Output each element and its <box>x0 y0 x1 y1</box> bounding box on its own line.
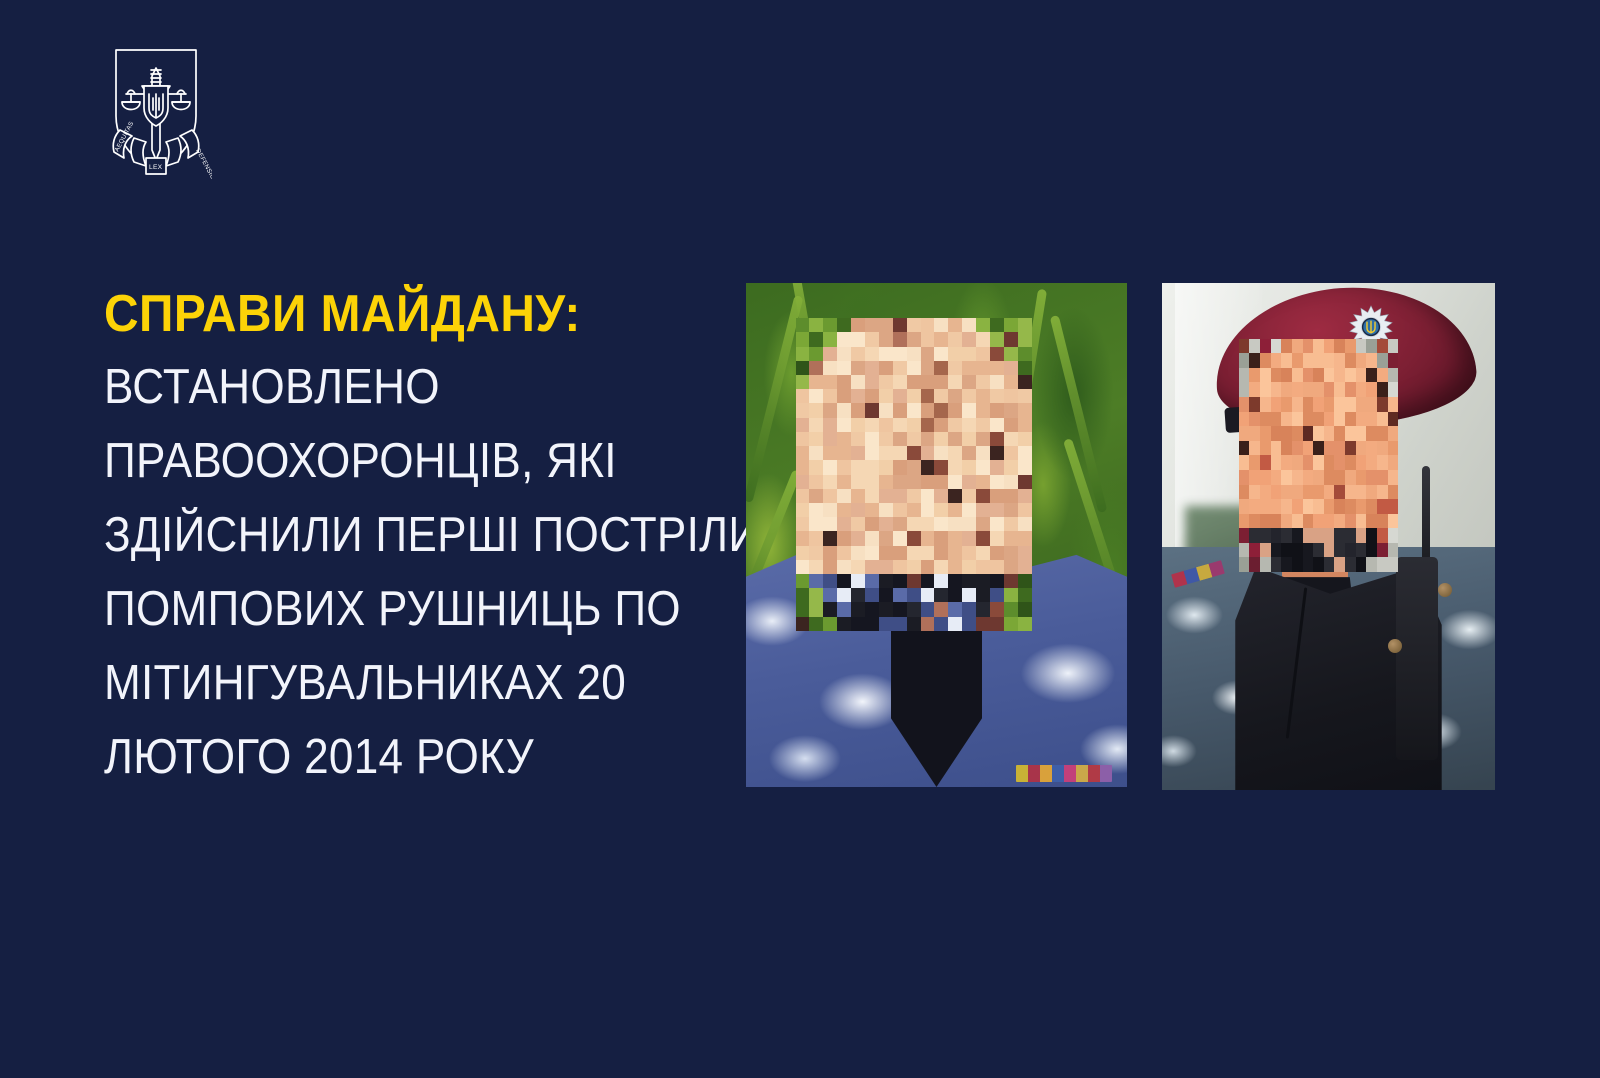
emblem-svg: AEQUITAS LEX DEFENSIO <box>100 42 212 187</box>
medal-ribbon-bar <box>1016 765 1112 782</box>
poster-canvas: AEQUITAS LEX DEFENSIO СПРАВИ МАЙДАНУ: ВС… <box>0 0 1600 1078</box>
body-line-2: ПРАВООХОРОНЦІВ, ЯКІ <box>104 424 689 498</box>
radio-antenna <box>1422 466 1430 567</box>
page-title: СПРАВИ МАЙДАНУ: <box>104 278 702 350</box>
vest-button <box>1438 583 1452 597</box>
body-line-1: ВСТАНОВЛЕНО <box>104 350 689 424</box>
headline-text-block: СПРАВИ МАЙДАНУ: ВСТАНОВЛЕНО ПРАВООХОРОНЦ… <box>104 278 754 794</box>
vest-button <box>1388 639 1402 653</box>
face-pixelation-redaction <box>796 318 1032 630</box>
suspect-photo-right <box>1162 283 1495 790</box>
emblem-motto-right: DEFENSIO <box>194 148 212 181</box>
body-line-3: ЗДІЙСНИЛИ ПЕРШІ ПОСТРІЛИ З <box>104 498 689 572</box>
prosecutor-general-emblem-logo: AEQUITAS LEX DEFENSIO <box>100 42 212 187</box>
face-pixelation-redaction <box>1239 339 1399 572</box>
body-line-5: МІТИНГУВАЛЬНИКАХ 20 <box>104 646 689 720</box>
body-line-4: ПОМПОВИХ РУШНИЦЬ ПО <box>104 572 689 646</box>
handheld-radio <box>1396 557 1438 760</box>
suspect-photo-left <box>746 283 1127 787</box>
body-line-6: ЛЮТОГО 2014 РОКУ <box>104 720 689 794</box>
emblem-motto-center: LEX <box>149 164 163 171</box>
